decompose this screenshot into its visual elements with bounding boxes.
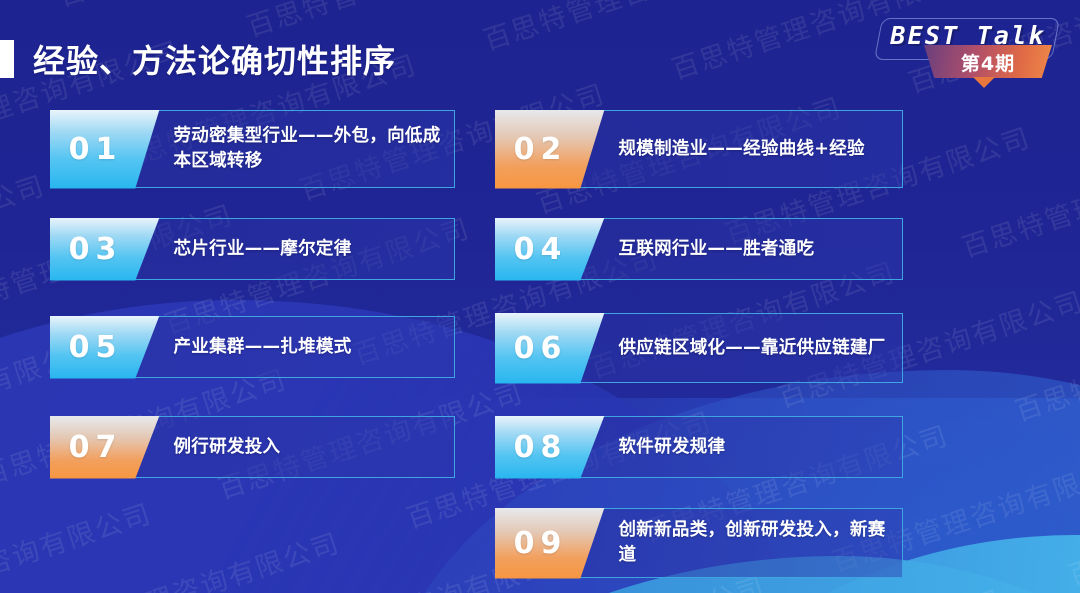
list-item[interactable]: 08软件研发规律 bbox=[495, 416, 903, 478]
card-label: 产业集群——扎堆模式 bbox=[160, 317, 455, 377]
slide-header: 经验、方法论确切性排序 bbox=[0, 36, 396, 82]
card-label: 供应链区域化——靠近供应链建厂 bbox=[605, 314, 903, 382]
card-number: 03 bbox=[69, 232, 123, 267]
list-item[interactable]: 07例行研发投入 bbox=[50, 416, 455, 478]
card-number: 05 bbox=[69, 330, 123, 365]
presentation-slide: 百思特管理咨询有限公司百思特管理咨询有限公司百思特管理咨询有限公司百思特管理咨询… bbox=[0, 0, 1080, 593]
card-number-badge: 07 bbox=[50, 416, 160, 479]
card-label: 劳动密集型行业——外包，向低成本区域转移 bbox=[160, 111, 455, 187]
list-item[interactable]: 04互联网行业——胜者通吃 bbox=[495, 218, 903, 280]
card-label: 芯片行业——摩尔定律 bbox=[160, 219, 455, 279]
card-number-badge: 09 bbox=[495, 508, 605, 579]
card-number-badge: 02 bbox=[495, 110, 605, 189]
card-number: 09 bbox=[514, 526, 568, 561]
list-item[interactable]: 09创新新品类，创新研发投入，新赛道 bbox=[495, 508, 903, 578]
card-number-badge: 08 bbox=[495, 416, 605, 479]
best-talk-logo: BEST Talk 第4期 bbox=[872, 14, 1058, 86]
card-number: 07 bbox=[69, 430, 123, 465]
card-label: 互联网行业——胜者通吃 bbox=[605, 219, 903, 279]
card-label: 软件研发规律 bbox=[605, 417, 903, 477]
page-title: 经验、方法论确切性排序 bbox=[33, 36, 396, 82]
card-number: 02 bbox=[514, 132, 568, 167]
card-number-badge: 03 bbox=[50, 218, 160, 281]
title-accent-bar bbox=[0, 40, 14, 78]
list-item[interactable]: 01劳动密集型行业——外包，向低成本区域转移 bbox=[50, 110, 455, 188]
list-item[interactable]: 05产业集群——扎堆模式 bbox=[50, 316, 455, 378]
card-label: 规模制造业——经验曲线+经验 bbox=[605, 111, 903, 187]
card-grid: 01劳动密集型行业——外包，向低成本区域转移02规模制造业——经验曲线+经验03… bbox=[0, 0, 1080, 593]
logo-ribbon-tail-icon bbox=[973, 77, 995, 88]
logo-edition-text: 第4期 bbox=[924, 49, 1052, 76]
list-item[interactable]: 03芯片行业——摩尔定律 bbox=[50, 218, 455, 280]
list-item[interactable]: 02规模制造业——经验曲线+经验 bbox=[495, 110, 903, 188]
card-number: 04 bbox=[514, 232, 568, 267]
card-number-badge: 04 bbox=[495, 218, 605, 281]
card-number: 08 bbox=[514, 430, 568, 465]
card-number: 06 bbox=[514, 331, 568, 366]
card-label: 例行研发投入 bbox=[160, 417, 455, 477]
card-number-badge: 01 bbox=[50, 110, 160, 189]
card-label: 创新新品类，创新研发投入，新赛道 bbox=[605, 509, 903, 577]
card-number-badge: 06 bbox=[495, 313, 605, 384]
card-number: 01 bbox=[69, 132, 123, 167]
list-item[interactable]: 06供应链区域化——靠近供应链建厂 bbox=[495, 313, 903, 383]
card-number-badge: 05 bbox=[50, 316, 160, 379]
